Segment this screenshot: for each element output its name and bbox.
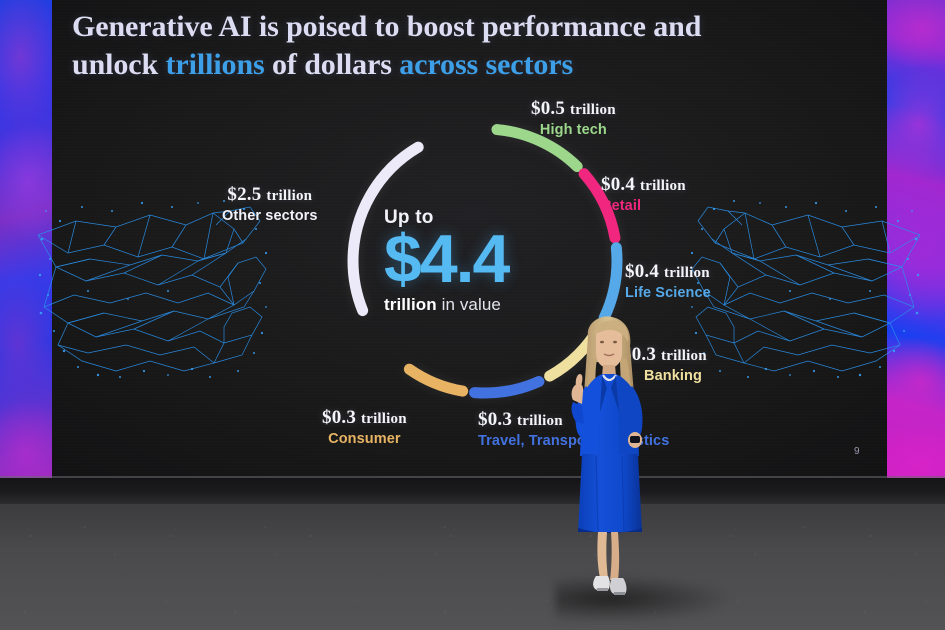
label-consumer-amount: $0.3 trillion	[322, 407, 407, 429]
amount-unit: trillion	[570, 102, 616, 118]
label-other-sectors: $2.5 trillion Other sectors	[222, 184, 318, 224]
title-line-2-plain-a: unlock	[72, 48, 166, 81]
label-other-amount: $2.5 trillion	[222, 184, 318, 206]
title-line-2-plain-b: of dollars	[265, 48, 400, 81]
amount-value: $0.3	[322, 407, 356, 428]
label-retail-amount: $0.4 trillion	[601, 174, 686, 196]
floor-texture	[0, 500, 945, 630]
stage-floor	[0, 500, 945, 630]
amount-unit: trillion	[640, 178, 686, 194]
presenter-figure	[556, 316, 664, 606]
amount-value: $0.4	[625, 261, 659, 282]
label-high-tech-amount: $0.5 trillion	[531, 98, 616, 120]
amount-unit: trillion	[266, 188, 312, 204]
label-life-science-sector: Life Science	[625, 285, 711, 301]
slide-number: 9	[854, 446, 860, 457]
amount-unit: trillion	[661, 348, 707, 364]
amount-value: $0.4	[601, 174, 635, 195]
conference-stage-photo: Generative AI is poised to boost perform…	[0, 0, 945, 630]
led-presentation-screen: Generative AI is poised to boost perform…	[0, 0, 945, 478]
screen-base-panel	[0, 478, 945, 504]
amount-value: $0.5	[531, 98, 565, 119]
amount-value: $2.5	[227, 184, 261, 205]
label-high-tech: $0.5 trillion High tech	[531, 98, 616, 138]
title-highlight-trillions: trillions	[166, 48, 265, 81]
label-consumer-sector: Consumer	[322, 431, 407, 447]
label-consumer: $0.3 trillion Consumer	[322, 407, 407, 447]
label-high-tech-sector: High tech	[531, 122, 616, 138]
amount-unit: trillion	[361, 411, 407, 427]
slide-title: Generative AI is poised to boost perform…	[72, 8, 862, 84]
label-retail-sector: Retail	[601, 198, 686, 214]
label-life-science: $0.4 trillion Life Science	[625, 261, 711, 301]
title-line-1: Generative AI is poised to boost perform…	[72, 10, 701, 43]
title-highlight-across-sectors: across sectors	[399, 48, 573, 81]
amount-unit: trillion	[664, 265, 710, 281]
label-other-sector: Other sectors	[222, 208, 318, 224]
wireframe-hand-right-icon	[690, 190, 920, 385]
label-life-science-amount: $0.4 trillion	[625, 261, 711, 283]
amount-value: $0.3	[478, 409, 512, 430]
label-retail: $0.4 trillion Retail	[601, 174, 686, 214]
